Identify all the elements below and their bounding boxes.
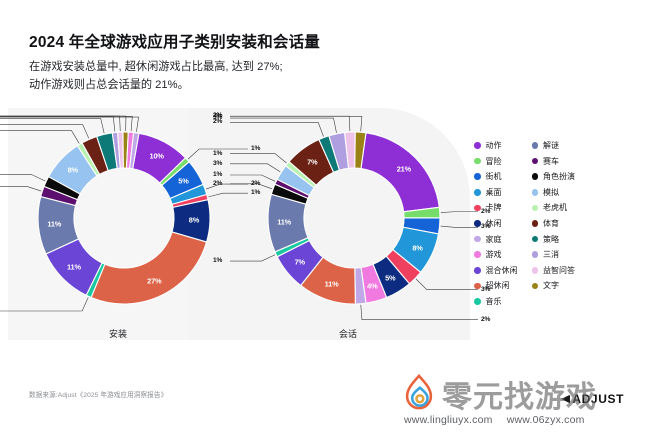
legend-color-dot-icon [474,158,481,165]
legend-item-label: 文字 [543,280,559,291]
legend-color-dot-icon [532,220,539,227]
slice-value-label: 7% [307,157,317,166]
page-subtitle: 在游戏安装总量中, 超休闲游戏占比最高, 达到 27%; 动作游戏则占总会话量的… [29,58,283,94]
slice-value-label: 11% [325,280,339,289]
legend-color-dot-icon [474,142,481,149]
legend-item-a-0[interactable]: 动作 [474,140,518,151]
legend-item-b-8[interactable]: 益智问答 [532,265,576,276]
callout-value-label: 2% [213,180,222,187]
legend-item-b-0[interactable]: 解谜 [532,140,576,151]
legend-item-label: 三消 [543,249,559,260]
legend-item-a-10[interactable]: 音乐 [474,296,518,307]
legend-color-dot-icon [532,267,539,274]
adjust-mark-icon [561,395,570,404]
legend-item-label: 冒险 [486,156,502,167]
legend-color-dot-icon [532,189,539,196]
legend-item-label: 赛车 [543,156,559,167]
flame-icon [402,374,436,410]
legend-item-a-3[interactable]: 桌面 [474,187,518,198]
slice-value-label: 21% [397,164,411,173]
callout-value-label: 1% [251,145,260,152]
legend-item-label: 老虎机 [543,202,567,213]
chart-legend: 动作冒险街机桌面卡牌休闲家庭游戏混合休闲超休闲音乐 解谜赛车角色扮演模拟老虎机体… [474,140,646,307]
legend-color-dot-icon [474,267,481,274]
legend-item-label: 策略 [543,234,559,245]
subtitle-line-1: 在游戏安装总量中, 超休闲游戏占比最高, 达到 27%; [29,58,283,76]
slice-value-label: 4% [367,281,377,290]
slice-value-label: 8% [189,216,199,225]
legend-item-a-5[interactable]: 休闲 [474,218,518,229]
legend-item-label: 超休闲 [486,280,510,291]
slice-value-label: 11% [67,262,81,271]
slice-value-label: 5% [385,273,395,282]
legend-column-1: 动作冒险街机桌面卡牌休闲家庭游戏混合休闲超休闲音乐 [474,140,518,307]
legend-color-dot-icon [532,173,539,180]
legend-item-a-2[interactable]: 街机 [474,171,518,182]
slice-value-label: 5% [178,177,188,186]
adjust-logo-text: ADJUST [572,392,624,406]
legend-item-b-3[interactable]: 模拟 [532,187,576,198]
legend-color-dot-icon [474,220,481,227]
legend-item-b-6[interactable]: 策略 [532,234,576,245]
legend-color-dot-icon [474,173,481,180]
legend-item-label: 休闲 [486,218,502,229]
legend-item-label: 解谜 [543,140,559,151]
slice-value-label: 7% [295,258,305,267]
legend-color-dot-icon [474,236,481,243]
slice-value-label: 11% [277,218,291,227]
legend-item-a-1[interactable]: 冒险 [474,156,518,167]
subtitle-line-2: 动作游戏则占总会话量的 21%。 [29,76,283,94]
callout-value-label: 1% [213,150,222,157]
legend-color-dot-icon [474,283,481,290]
legend-item-label: 模拟 [543,187,559,198]
watermark-url-2: www.06zyx.com [507,414,585,426]
slice-value-label: 27% [147,277,161,286]
legend-item-b-4[interactable]: 老虎机 [532,202,576,213]
legend-item-a-4[interactable]: 卡牌 [474,202,518,213]
callout-value-label: 2% [481,316,490,323]
infographic-card: 2024 年全球游戏应用子类别安装和会话量 在游戏安装总量中, 超休闲游戏占比最… [0,0,650,433]
legend-color-dot-icon [474,189,481,196]
callout-value-label: 1% [251,189,260,196]
legend-item-b-9[interactable]: 文字 [532,280,576,291]
legend-color-dot-icon [474,251,481,258]
legend-item-label: 混合休闲 [486,265,518,276]
legend-item-label: 动作 [486,140,502,151]
legend-item-a-9[interactable]: 超休闲 [474,280,518,291]
legend-color-dot-icon [532,251,539,258]
legend-item-label: 游戏 [486,249,502,260]
legend-color-dot-icon [474,298,481,305]
slice-value-label: 8% [68,166,78,175]
legend-item-b-7[interactable]: 三消 [532,249,576,260]
legend-item-label: 益智问答 [543,265,575,276]
callout-value-label: 2% [213,112,222,119]
legend-color-dot-icon [474,205,481,212]
legend-item-label: 街机 [486,171,502,182]
slice-value-label: 11% [47,220,61,229]
slice-value-label: 10% [150,152,164,161]
page-title: 2024 年全球游戏应用子类别安装和会话量 [29,30,320,52]
legend-item-label: 桌面 [486,187,502,198]
legend-item-a-8[interactable]: 混合休闲 [474,265,518,276]
legend-color-dot-icon [532,158,539,165]
legend-item-label: 体育 [543,218,559,229]
legend-color-dot-icon [532,236,539,243]
legend-column-2: 解谜赛车角色扮演模拟老虎机体育策略三消益智问答文字 [532,140,576,307]
legend-item-label: 音乐 [486,296,502,307]
watermark-urls: www.lingliuyx.com www.06zyx.com [404,414,596,426]
legend-item-a-6[interactable]: 家庭 [474,234,518,245]
callout-value-label: 3% [213,160,222,167]
legend-color-dot-icon [532,142,539,149]
pie-slice-超休闲[interactable] [91,232,206,304]
callout-value-label: 1% [213,171,222,178]
chart-label-installs: 安装 [78,327,158,340]
legend-item-label: 角色扮演 [543,171,575,182]
legend-item-b-1[interactable]: 赛车 [532,156,576,167]
watermark-url-1: www.lingliuyx.com [404,414,493,426]
legend-item-label: 家庭 [486,234,502,245]
callout-value-label: 2% [251,180,260,187]
legend-item-b-5[interactable]: 体育 [532,218,576,229]
callout-value-label: 1% [213,257,222,264]
adjust-logo: ADJUST [561,392,624,406]
legend-color-dot-icon [532,205,539,212]
slice-value-label: 8% [412,243,422,252]
source-note: 数据来源:Adjust《2025 年游戏应用洞察报告》 [29,389,167,399]
legend-item-label: 卡牌 [486,202,502,213]
legend-item-a-7[interactable]: 游戏 [474,249,518,260]
chart-label-sessions: 会话 [308,327,388,340]
legend-item-b-2[interactable]: 角色扮演 [532,171,576,182]
legend-color-dot-icon [532,283,539,290]
